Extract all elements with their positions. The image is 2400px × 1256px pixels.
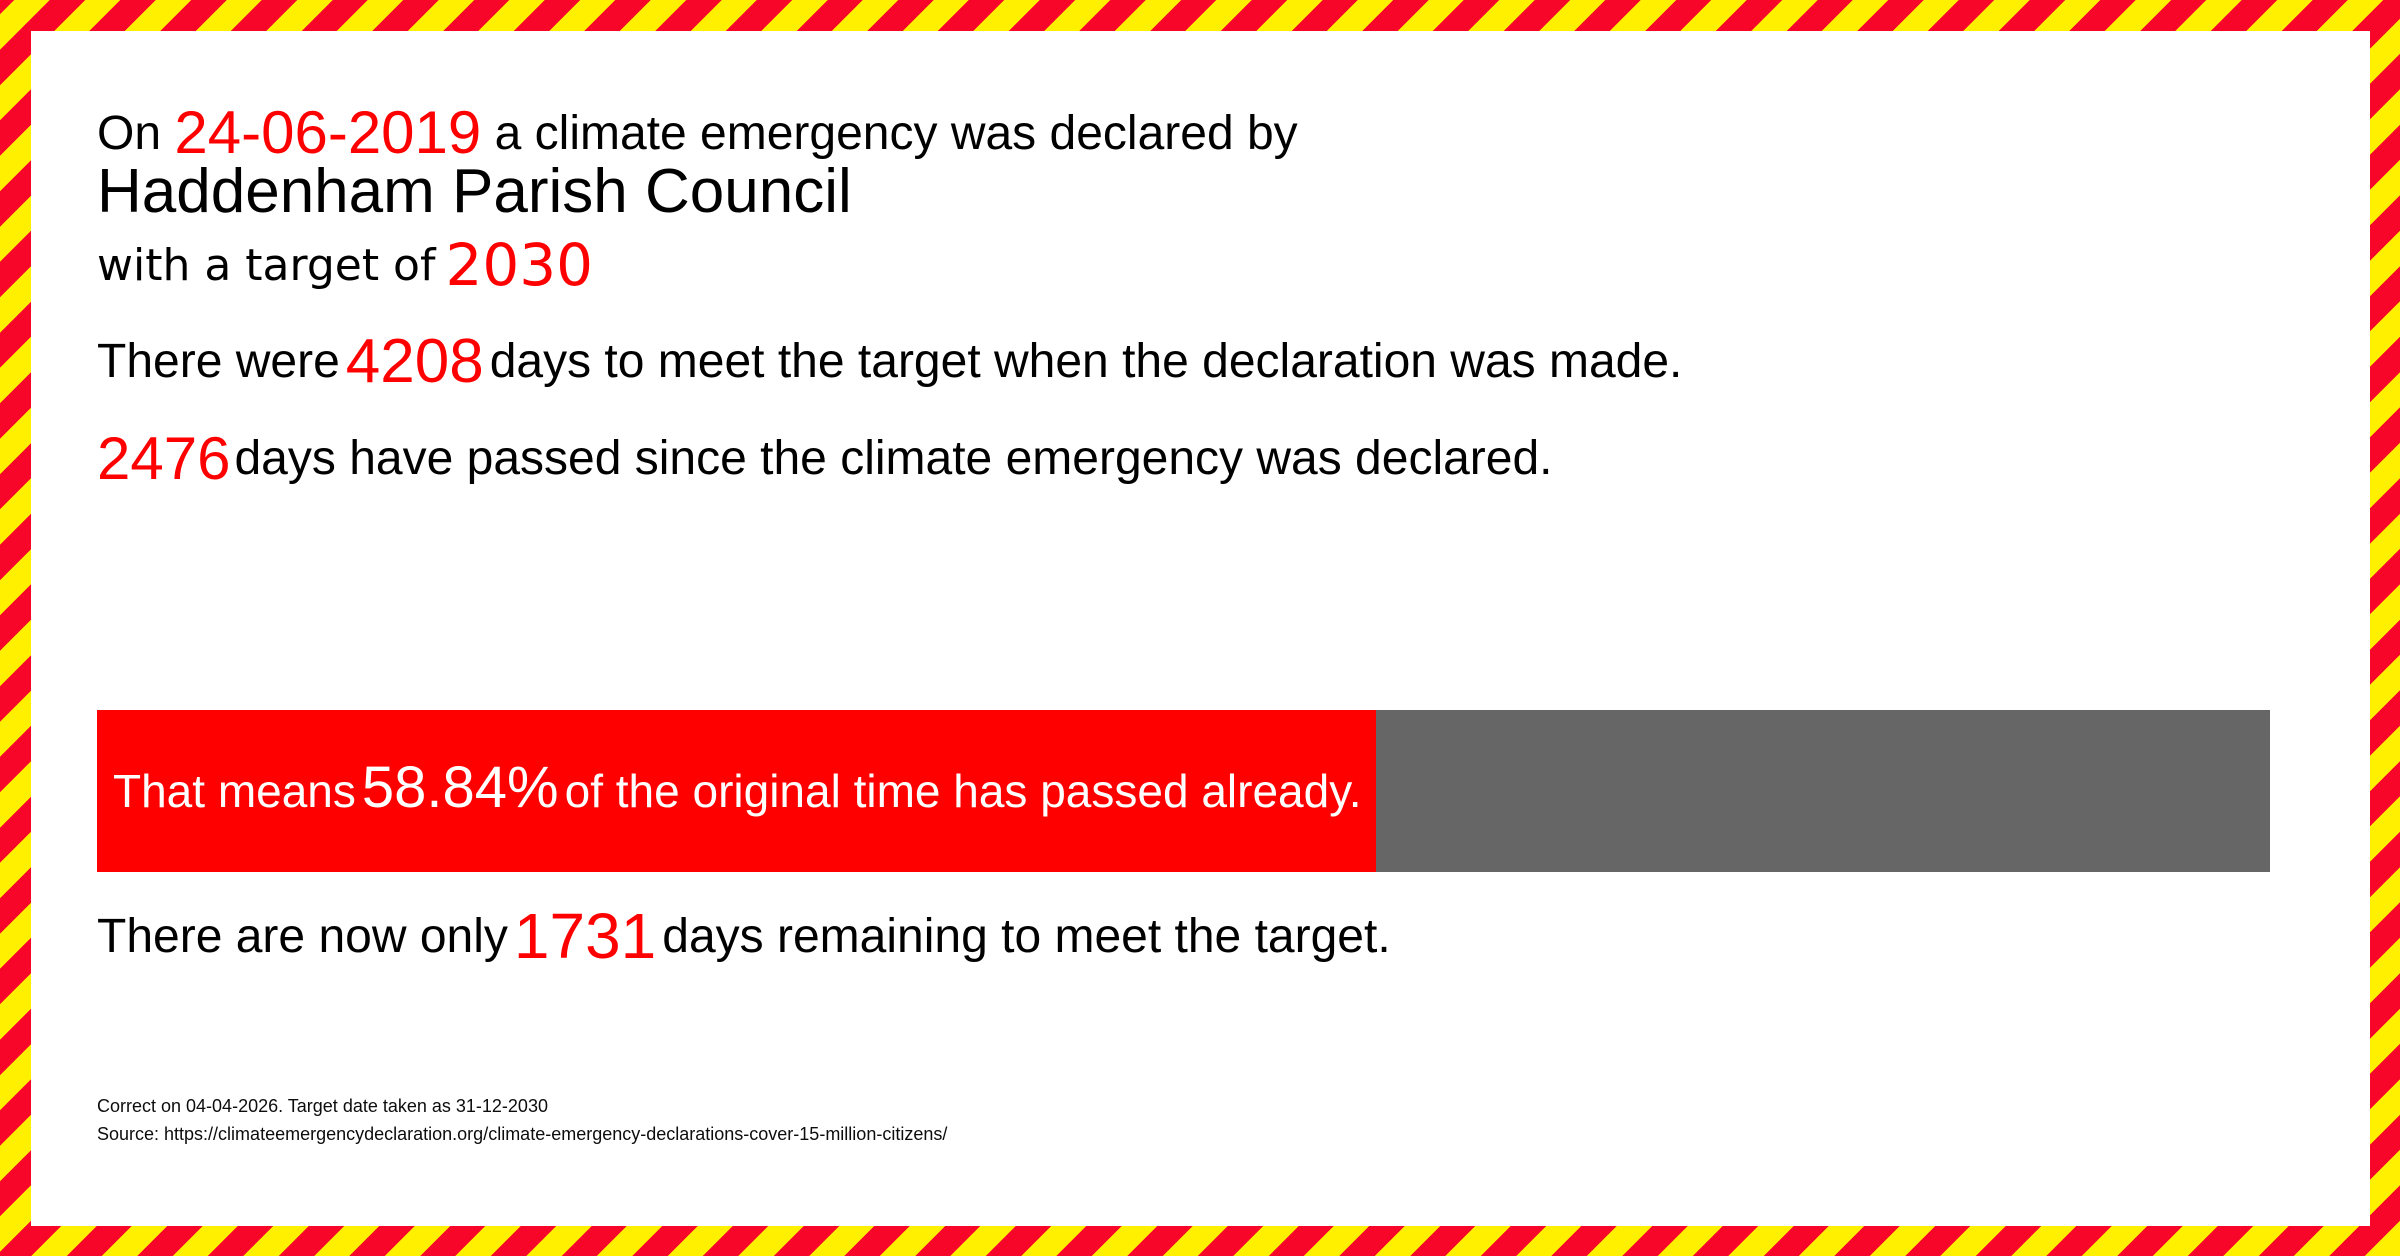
original-days-value: 4208: [340, 327, 490, 396]
progress-prefix: That means: [113, 768, 356, 814]
progress-suffix: of the original time has passed already.: [565, 768, 1362, 814]
days-remaining-line: There are now only1731days remaining to …: [97, 904, 1391, 968]
progress-label: That means58.84%of the original time has…: [113, 710, 1362, 872]
original-days-prefix: There were: [97, 335, 340, 388]
days-remaining-prefix: There are now only: [97, 910, 508, 963]
original-days-line: There were4208days to meet the target wh…: [97, 331, 1682, 393]
original-days-suffix: days to meet the target when the declara…: [490, 335, 1683, 388]
target-prefix: with a target of: [97, 240, 435, 291]
declaration-suffix: a climate emergency was declared by: [481, 107, 1297, 160]
days-passed-line: 2476days have passed since the climate e…: [97, 429, 1553, 489]
target-year: 2030: [435, 231, 593, 299]
declaration-line: On 24-06-2019 a climate emergency was de…: [97, 103, 1298, 163]
footer-notes: Correct on 04-04-2026. Target date taken…: [97, 1093, 947, 1149]
days-remaining-suffix: days remaining to meet the target.: [662, 910, 1390, 963]
declaring-authority: Haddenham Parish Council: [97, 161, 852, 223]
footer-source: Source: https://climateemergencydeclarat…: [97, 1121, 947, 1149]
declaration-date: 24-06-2019: [174, 99, 481, 166]
target-line: with a target of2030: [97, 236, 593, 294]
days-remaining-value: 1731: [508, 900, 662, 972]
footer-correct-on: Correct on 04-04-2026. Target date taken…: [97, 1093, 947, 1121]
declaration-prefix: On: [97, 107, 174, 160]
progress-percent: 58.84%: [356, 759, 565, 817]
days-passed-value: 2476: [97, 425, 234, 492]
days-passed-suffix: days have passed since the climate emerg…: [234, 432, 1552, 485]
poster-canvas: On 24-06-2019 a climate emergency was de…: [31, 31, 2370, 1226]
time-elapsed-progress-bar: That means58.84%of the original time has…: [97, 710, 2270, 872]
poster-frame: On 24-06-2019 a climate emergency was de…: [0, 0, 2400, 1256]
